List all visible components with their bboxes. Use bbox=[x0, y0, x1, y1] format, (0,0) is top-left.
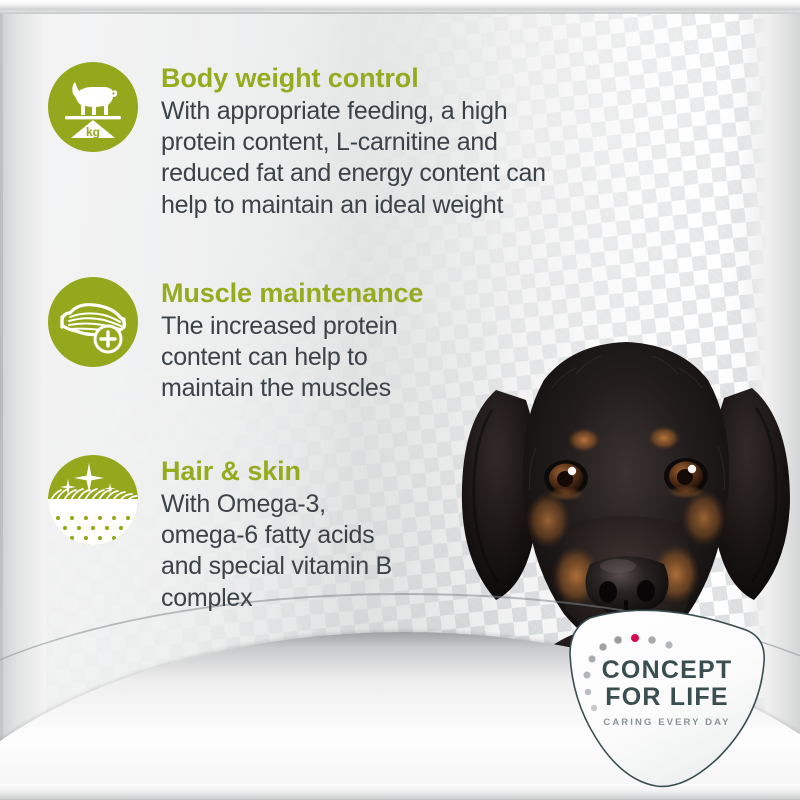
muscle-fibre-plus-icon bbox=[48, 277, 138, 367]
feature-text-block: Muscle maintenance The increased protein… bbox=[161, 277, 423, 405]
logo-tagline: CARING EVERY DAY bbox=[603, 717, 730, 728]
product-packaging-panel: kg Body weight control With appropriate … bbox=[0, 0, 800, 800]
concept-for-life-logo: CONCEPT FOR LIFE CARING EVERY DAY bbox=[560, 604, 774, 792]
feature-muscle-maintenance: Muscle maintenance The increased protein… bbox=[48, 277, 423, 405]
feature-text-block: Hair & skin With Omega-3, omega-6 fatty … bbox=[161, 455, 392, 614]
feature-title: Body weight control bbox=[161, 64, 546, 93]
feature-body-weight-control: kg Body weight control With appropriate … bbox=[48, 62, 546, 221]
feature-body: With Omega-3, omega-6 fatty acids and sp… bbox=[161, 489, 392, 615]
svg-text:kg: kg bbox=[86, 125, 100, 139]
dog-on-scale-icon: kg bbox=[48, 62, 138, 152]
logo-line-1: CONCEPT bbox=[602, 656, 733, 684]
top-seam-line bbox=[0, 12, 800, 14]
hair-and-skin-icon bbox=[48, 455, 138, 545]
feature-hair-and-skin: Hair & skin With Omega-3, omega-6 fatty … bbox=[48, 455, 392, 614]
logo-line-2: FOR LIFE bbox=[605, 683, 728, 711]
feature-title: Muscle maintenance bbox=[161, 279, 423, 308]
feature-body: With appropriate feeding, a high protein… bbox=[161, 96, 546, 222]
feature-text-block: Body weight control With appropriate fee… bbox=[161, 62, 546, 221]
feature-body: The increased protein content can help t… bbox=[161, 311, 423, 405]
feature-title: Hair & skin bbox=[161, 457, 392, 486]
